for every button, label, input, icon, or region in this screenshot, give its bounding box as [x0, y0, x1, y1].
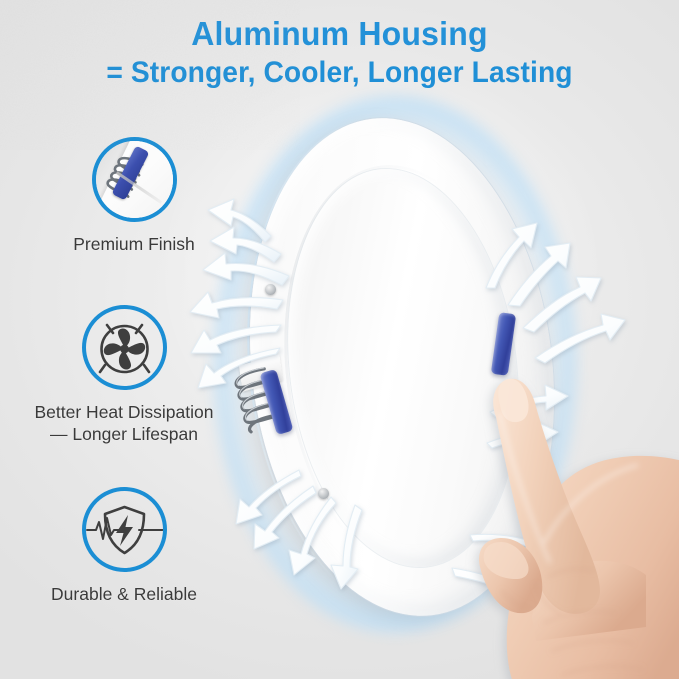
housing-screw-upper: [265, 284, 276, 295]
feature-heat-dissipation: Better Heat Dissipation — Longer Lifespa…: [14, 305, 234, 445]
cooling-fan-icon: [82, 305, 167, 390]
swatch-background: [96, 141, 173, 218]
feature-durable-reliable: Durable & Reliable: [24, 487, 224, 605]
headline-line-2: = Stronger, Cooler, Longer Lasting: [20, 54, 658, 92]
hand-touching-fixture: [440, 355, 679, 679]
feature-premium-finish: Premium Finish: [34, 137, 234, 255]
feature-label: Premium Finish: [34, 233, 234, 255]
headline-block: Aluminum Housing = Stronger, Cooler, Lon…: [0, 14, 679, 92]
shield-bolt-pulse-icon: [82, 487, 167, 572]
cooling-fan-glyph: [86, 309, 163, 386]
feature-label: Durable & Reliable: [24, 583, 224, 605]
housing-screw-lower: [318, 488, 329, 499]
infographic-canvas: Aluminum Housing = Stronger, Cooler, Lon…: [0, 0, 679, 679]
premium-finish-swatch-icon: [92, 137, 177, 222]
headline-line-1: Aluminum Housing: [10, 14, 669, 54]
shield-bolt-pulse-glyph: [86, 491, 163, 568]
feature-label: Better Heat Dissipation — Longer Lifespa…: [14, 401, 234, 445]
